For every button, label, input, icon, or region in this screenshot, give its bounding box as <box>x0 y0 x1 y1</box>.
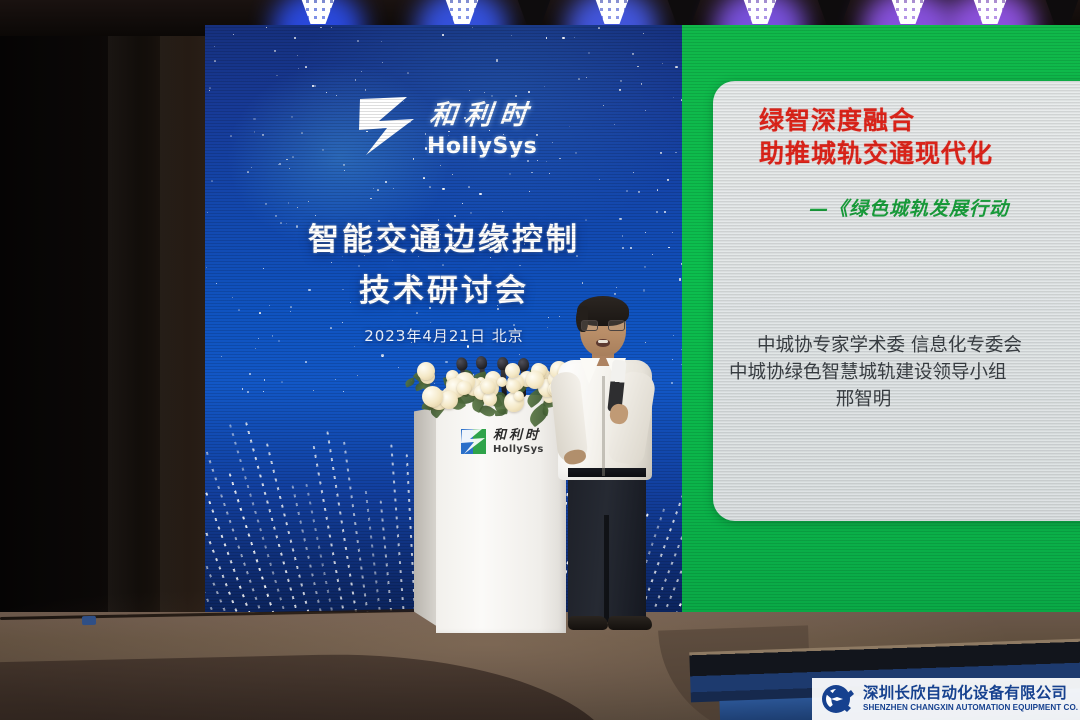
hollysys-english-name: HollySys <box>427 134 537 159</box>
presenter-leg-gap <box>604 515 609 623</box>
hollysys-logo-color-icon <box>460 427 487 456</box>
changxin-cx-monogram-icon <box>820 684 854 714</box>
glasses-icon <box>581 320 625 331</box>
banner-title-line1: 智能交通边缘控制 <box>205 215 683 266</box>
presenter <box>552 300 662 630</box>
speaker-podium: 和利时 HollySys <box>414 395 566 633</box>
slide-presenter-name: 邢智明 <box>713 387 1080 414</box>
presenter-shoe <box>608 616 652 630</box>
slide-title-line1: 绿智深度融合 <box>713 105 1080 138</box>
cable-clip <box>82 616 96 625</box>
podium-english-name: HollySys <box>493 444 544 455</box>
presenter-mouth <box>596 339 610 347</box>
presentation-led-screen: 绿智深度融合 助推城轨交通现代化 —《绿色城轨发展行动 中城协专家学术委 信息化… <box>682 25 1080 625</box>
hollysys-lightning-logo-icon <box>357 95 417 157</box>
watermark-company-en: SHENZHEN CHANGXIN AUTOMATION EQUIPMENT C… <box>863 703 1080 712</box>
podium-chinese-name: 和利时 <box>493 429 544 442</box>
slide-credits: 中城协专家学术委 信息化专委会 中城协绿色智慧城轨建设领导小组 邢智明 <box>713 333 1080 413</box>
hollysys-logo: 和利时 HollySys <box>357 93 537 159</box>
slide-title-line2: 助推城轨交通现代化 <box>713 138 1080 171</box>
presenter-shirt-placket <box>602 376 605 476</box>
presenter-belt <box>568 468 646 477</box>
hollysys-chinese-name: 和利时 <box>428 93 537 132</box>
presentation-slide: 绿智深度融合 助推城轨交通现代化 —《绿色城轨发展行动 中城协专家学术委 信息化… <box>713 81 1080 521</box>
slide-credit-line2: 中城协绿色智慧城轨建设领导小组 <box>713 360 1080 387</box>
watermark-company-cn: 深圳长欣自动化设备有限公司 <box>863 685 1080 702</box>
slide-credit-line1: 中城协专家学术委 信息化专委会 <box>713 333 1080 360</box>
podium-side-panel <box>414 407 438 627</box>
source-watermark: 深圳长欣自动化设备有限公司 SHENZHEN CHANGXIN AUTOMATI… <box>812 678 1080 720</box>
podium-hollysys-logo: 和利时 HollySys <box>460 427 544 456</box>
slide-subtitle: —《绿色城轨发展行动 <box>713 194 1080 221</box>
presenter-shoe <box>568 616 608 630</box>
conference-stage-photo: 和利时 HollySys 智能交通边缘控制 技术研讨会 2023年4月21日 北… <box>0 0 1080 720</box>
